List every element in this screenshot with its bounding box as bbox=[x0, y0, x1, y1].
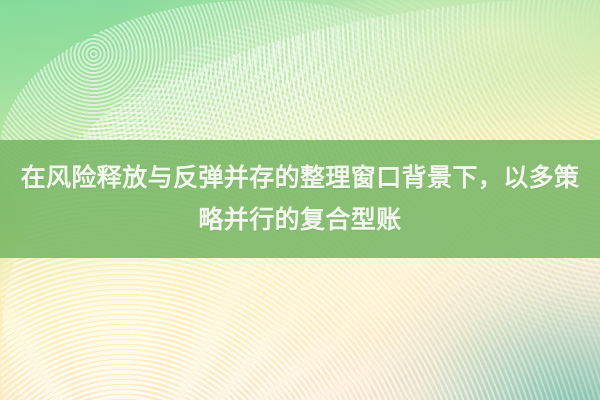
background-teal-accent bbox=[370, 250, 600, 400]
banner-image: 在风险释放与反弹并存的整理窗口背景下，以多策略并行的复合型账 bbox=[0, 0, 600, 400]
caption-text: 在风险释放与反弹并存的整理窗口背景下，以多策略并行的复合型账 bbox=[0, 157, 600, 241]
caption-band: 在风险释放与反弹并存的整理窗口背景下，以多策略并行的复合型账 bbox=[0, 140, 600, 258]
